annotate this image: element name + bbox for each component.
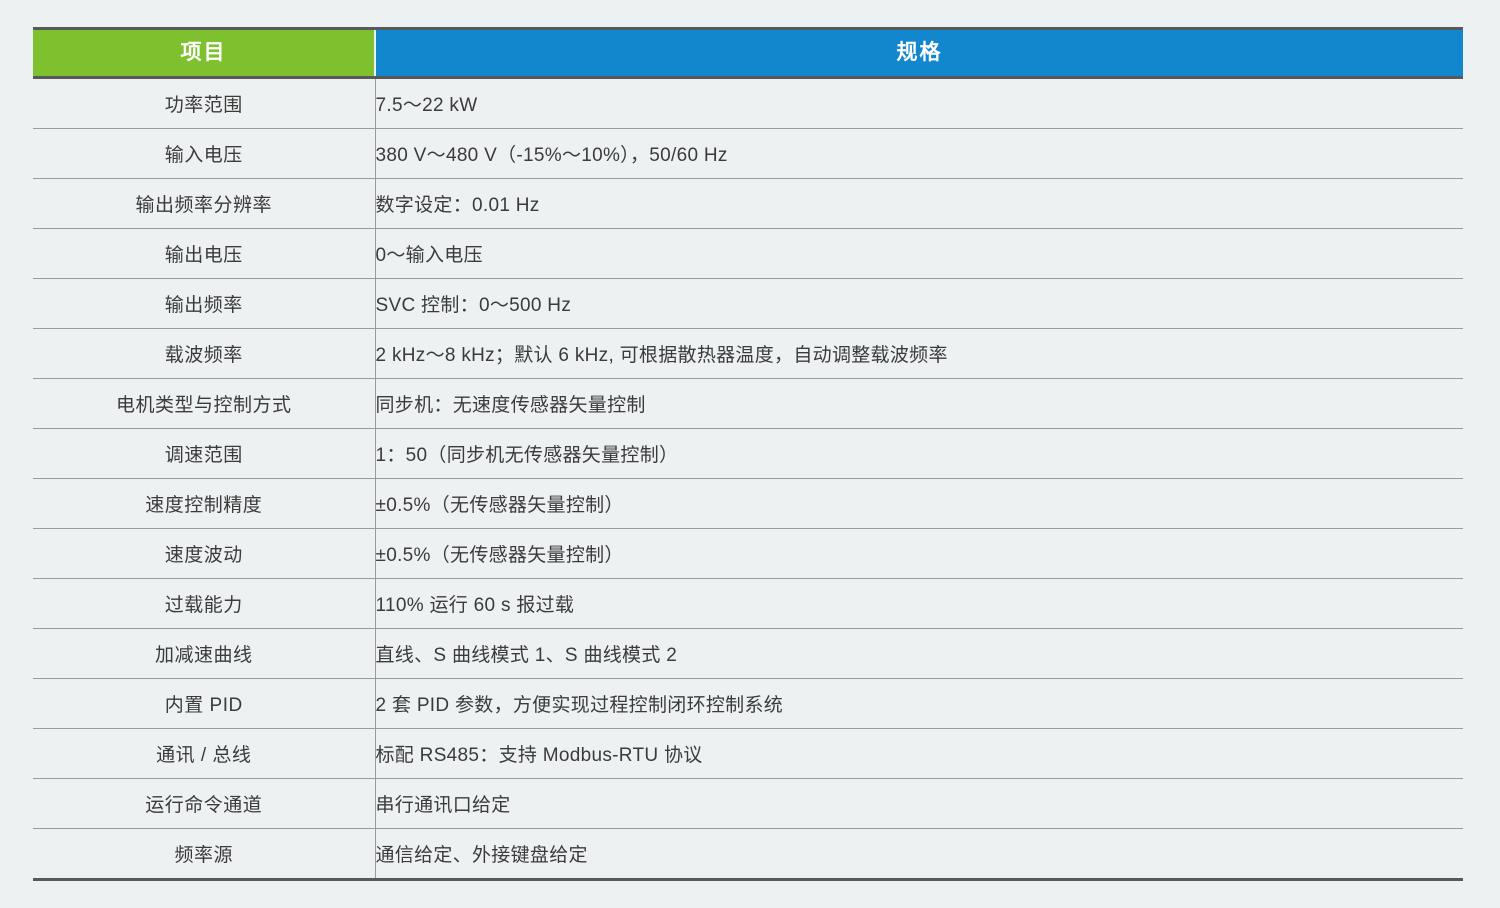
cell-spec: SVC 控制：0～500 Hz bbox=[375, 279, 1463, 329]
cell-item: 输出频率 bbox=[33, 279, 375, 329]
specification-sheet: 项目 规格 功率范围7.5～22 kW输入电压380 V～480 V（-15%～… bbox=[33, 27, 1463, 881]
cell-item: 调速范围 bbox=[33, 429, 375, 479]
table-row: 载波频率2 kHz～8 kHz；默认 6 kHz, 可根据散热器温度，自动调整载… bbox=[33, 329, 1463, 379]
table-body: 功率范围7.5～22 kW输入电压380 V～480 V（-15%～10%），5… bbox=[33, 78, 1463, 880]
cell-spec: 同步机：无速度传感器矢量控制 bbox=[375, 379, 1463, 429]
table-row: 输入电压380 V～480 V（-15%～10%），50/60 Hz bbox=[33, 129, 1463, 179]
cell-spec: 串行通讯口给定 bbox=[375, 779, 1463, 829]
cell-spec: 0～输入电压 bbox=[375, 229, 1463, 279]
table-row: 运行命令通道串行通讯口给定 bbox=[33, 779, 1463, 829]
cell-spec: 标配 RS485：支持 Modbus-RTU 协议 bbox=[375, 729, 1463, 779]
table-row: 速度控制精度±0.5%（无传感器矢量控制） bbox=[33, 479, 1463, 529]
table-header: 项目 规格 bbox=[33, 29, 1463, 78]
table-row: 电机类型与控制方式同步机：无速度传感器矢量控制 bbox=[33, 379, 1463, 429]
cell-item: 功率范围 bbox=[33, 78, 375, 129]
table-row: 功率范围7.5～22 kW bbox=[33, 78, 1463, 129]
column-header-spec: 规格 bbox=[375, 29, 1463, 78]
table-row: 加减速曲线直线、S 曲线模式 1、S 曲线模式 2 bbox=[33, 629, 1463, 679]
cell-spec: ±0.5%（无传感器矢量控制） bbox=[375, 529, 1463, 579]
cell-item: 速度控制精度 bbox=[33, 479, 375, 529]
cell-item: 通讯 / 总线 bbox=[33, 729, 375, 779]
cell-item: 输出频率分辨率 bbox=[33, 179, 375, 229]
cell-spec: 通信给定、外接键盘给定 bbox=[375, 829, 1463, 880]
cell-item: 频率源 bbox=[33, 829, 375, 880]
cell-item: 运行命令通道 bbox=[33, 779, 375, 829]
cell-spec: 380 V～480 V（-15%～10%），50/60 Hz bbox=[375, 129, 1463, 179]
cell-item: 速度波动 bbox=[33, 529, 375, 579]
cell-item: 加减速曲线 bbox=[33, 629, 375, 679]
cell-spec: ±0.5%（无传感器矢量控制） bbox=[375, 479, 1463, 529]
table-row: 频率源通信给定、外接键盘给定 bbox=[33, 829, 1463, 880]
table-row: 输出频率分辨率数字设定：0.01 Hz bbox=[33, 179, 1463, 229]
cell-spec: 1：50（同步机无传感器矢量控制） bbox=[375, 429, 1463, 479]
cell-spec: 2 kHz～8 kHz；默认 6 kHz, 可根据散热器温度，自动调整载波频率 bbox=[375, 329, 1463, 379]
table-row: 调速范围1：50（同步机无传感器矢量控制） bbox=[33, 429, 1463, 479]
cell-item: 电机类型与控制方式 bbox=[33, 379, 375, 429]
cell-item: 载波频率 bbox=[33, 329, 375, 379]
table-row: 过载能力110% 运行 60 s 报过载 bbox=[33, 579, 1463, 629]
table-row: 速度波动±0.5%（无传感器矢量控制） bbox=[33, 529, 1463, 579]
cell-item: 输入电压 bbox=[33, 129, 375, 179]
header-row: 项目 规格 bbox=[33, 29, 1463, 78]
column-header-item: 项目 bbox=[33, 29, 375, 78]
cell-item: 过载能力 bbox=[33, 579, 375, 629]
table-row: 通讯 / 总线标配 RS485：支持 Modbus-RTU 协议 bbox=[33, 729, 1463, 779]
cell-item: 输出电压 bbox=[33, 229, 375, 279]
specification-table: 项目 规格 功率范围7.5～22 kW输入电压380 V～480 V（-15%～… bbox=[33, 27, 1463, 881]
cell-item: 内置 PID bbox=[33, 679, 375, 729]
table-row: 输出频率SVC 控制：0～500 Hz bbox=[33, 279, 1463, 329]
cell-spec: 数字设定：0.01 Hz bbox=[375, 179, 1463, 229]
cell-spec: 直线、S 曲线模式 1、S 曲线模式 2 bbox=[375, 629, 1463, 679]
table-row: 输出电压0～输入电压 bbox=[33, 229, 1463, 279]
cell-spec: 2 套 PID 参数，方便实现过程控制闭环控制系统 bbox=[375, 679, 1463, 729]
cell-spec: 7.5～22 kW bbox=[375, 78, 1463, 129]
table-row: 内置 PID2 套 PID 参数，方便实现过程控制闭环控制系统 bbox=[33, 679, 1463, 729]
cell-spec: 110% 运行 60 s 报过载 bbox=[375, 579, 1463, 629]
